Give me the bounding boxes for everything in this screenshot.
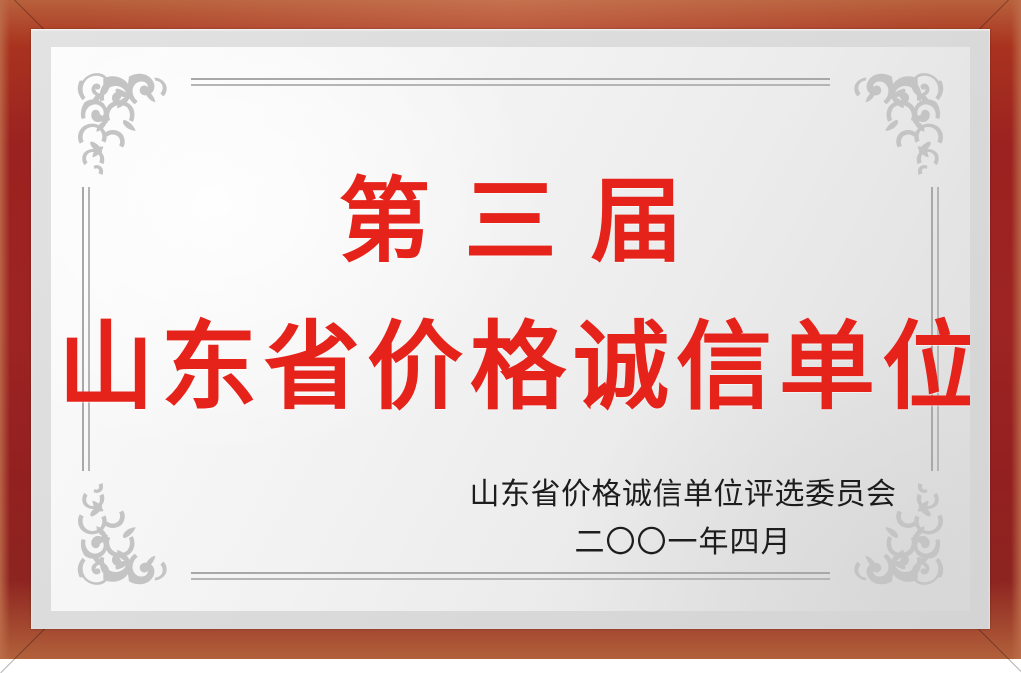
issue-date: 二〇〇一年四月 [468, 523, 898, 563]
issuing-organization: 山东省价格诚信单位评选委员会 [468, 475, 898, 515]
certificate-content: 第三届 山东省价格诚信单位 山东省价格诚信单位评选委员会 二〇〇一年四月 [51, 47, 970, 611]
signature-block: 山东省价格诚信单位评选委员会 二〇〇一年四月 [468, 475, 898, 562]
award-title-line-2: 山东省价格诚信单位 [51, 319, 970, 415]
plaque-mat: 第三届 山东省价格诚信单位 山东省价格诚信单位评选委员会 二〇〇一年四月 [31, 29, 990, 629]
award-plaque: 第三届 山东省价格诚信单位 山东省价格诚信单位评选委员会 二〇〇一年四月 [0, 0, 1021, 659]
award-title-line-1: 第三届 [51, 175, 970, 267]
certificate-panel: 第三届 山东省价格诚信单位 山东省价格诚信单位评选委员会 二〇〇一年四月 [51, 47, 970, 611]
